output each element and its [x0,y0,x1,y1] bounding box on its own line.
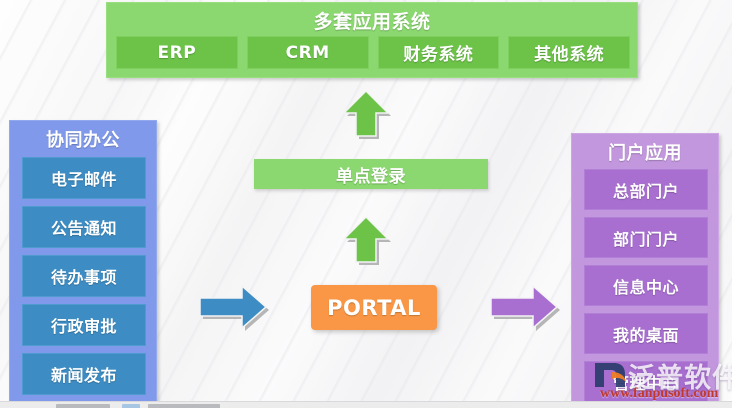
portal-item-department[interactable]: 部门门户 [584,217,708,258]
taskbar-item[interactable] [122,404,140,408]
taskbar-item[interactable] [56,404,110,408]
office-item-announcement[interactable]: 公告通知 [22,206,146,248]
panel-collaborative-office-title: 协同办公 [10,126,156,152]
app-item-finance[interactable]: 财务系统 [378,36,500,69]
arrow-up-to-sso-icon [340,212,392,268]
arrow-right-portal-to-applications-icon [487,281,561,333]
office-item-approval[interactable]: 行政审批 [22,304,146,346]
arrow-right-office-to-portal-icon [196,281,270,333]
app-item-crm[interactable]: CRM [247,36,369,69]
diagram-canvas: 多套应用系统 ERP CRM 财务系统 其他系统 协同办公 电子邮件 公告通知 … [0,0,732,408]
portal-item-my-desktop[interactable]: 我的桌面 [584,313,708,354]
office-item-email[interactable]: 电子邮件 [22,157,146,199]
app-item-other[interactable]: 其他系统 [508,36,630,69]
single-sign-on-bar[interactable]: 单点登录 [254,159,488,189]
panel-collaborative-office: 协同办公 电子邮件 公告通知 待办事项 行政审批 新闻发布 [9,120,157,408]
office-item-todo[interactable]: 待办事项 [22,255,146,297]
portal-applications-list: 总部门户 部门门户 信息中心 我的桌面 管理中心 [584,169,708,402]
arrow-up-to-applications-icon [340,86,392,142]
application-systems-list: ERP CRM 财务系统 其他系统 [116,36,630,69]
portal-box[interactable]: PORTAL [311,285,437,330]
app-item-erp[interactable]: ERP [116,36,238,69]
taskbar-item[interactable] [148,404,220,408]
collaborative-office-list: 电子邮件 公告通知 待办事项 行政审批 新闻发布 [22,157,146,395]
portal-item-headquarters[interactable]: 总部门户 [584,169,708,210]
portal-item-admin-center[interactable]: 管理中心 [584,361,708,402]
portal-item-info-center[interactable]: 信息中心 [584,265,708,306]
panel-application-systems-title: 多套应用系统 [107,7,637,34]
panel-portal-applications: 门户应用 总部门户 部门门户 信息中心 我的桌面 管理中心 [571,133,719,408]
panel-application-systems: 多套应用系统 ERP CRM 财务系统 其他系统 [106,2,638,78]
office-item-news[interactable]: 新闻发布 [22,353,146,395]
panel-portal-applications-title: 门户应用 [572,139,718,165]
taskbar[interactable] [0,401,732,408]
